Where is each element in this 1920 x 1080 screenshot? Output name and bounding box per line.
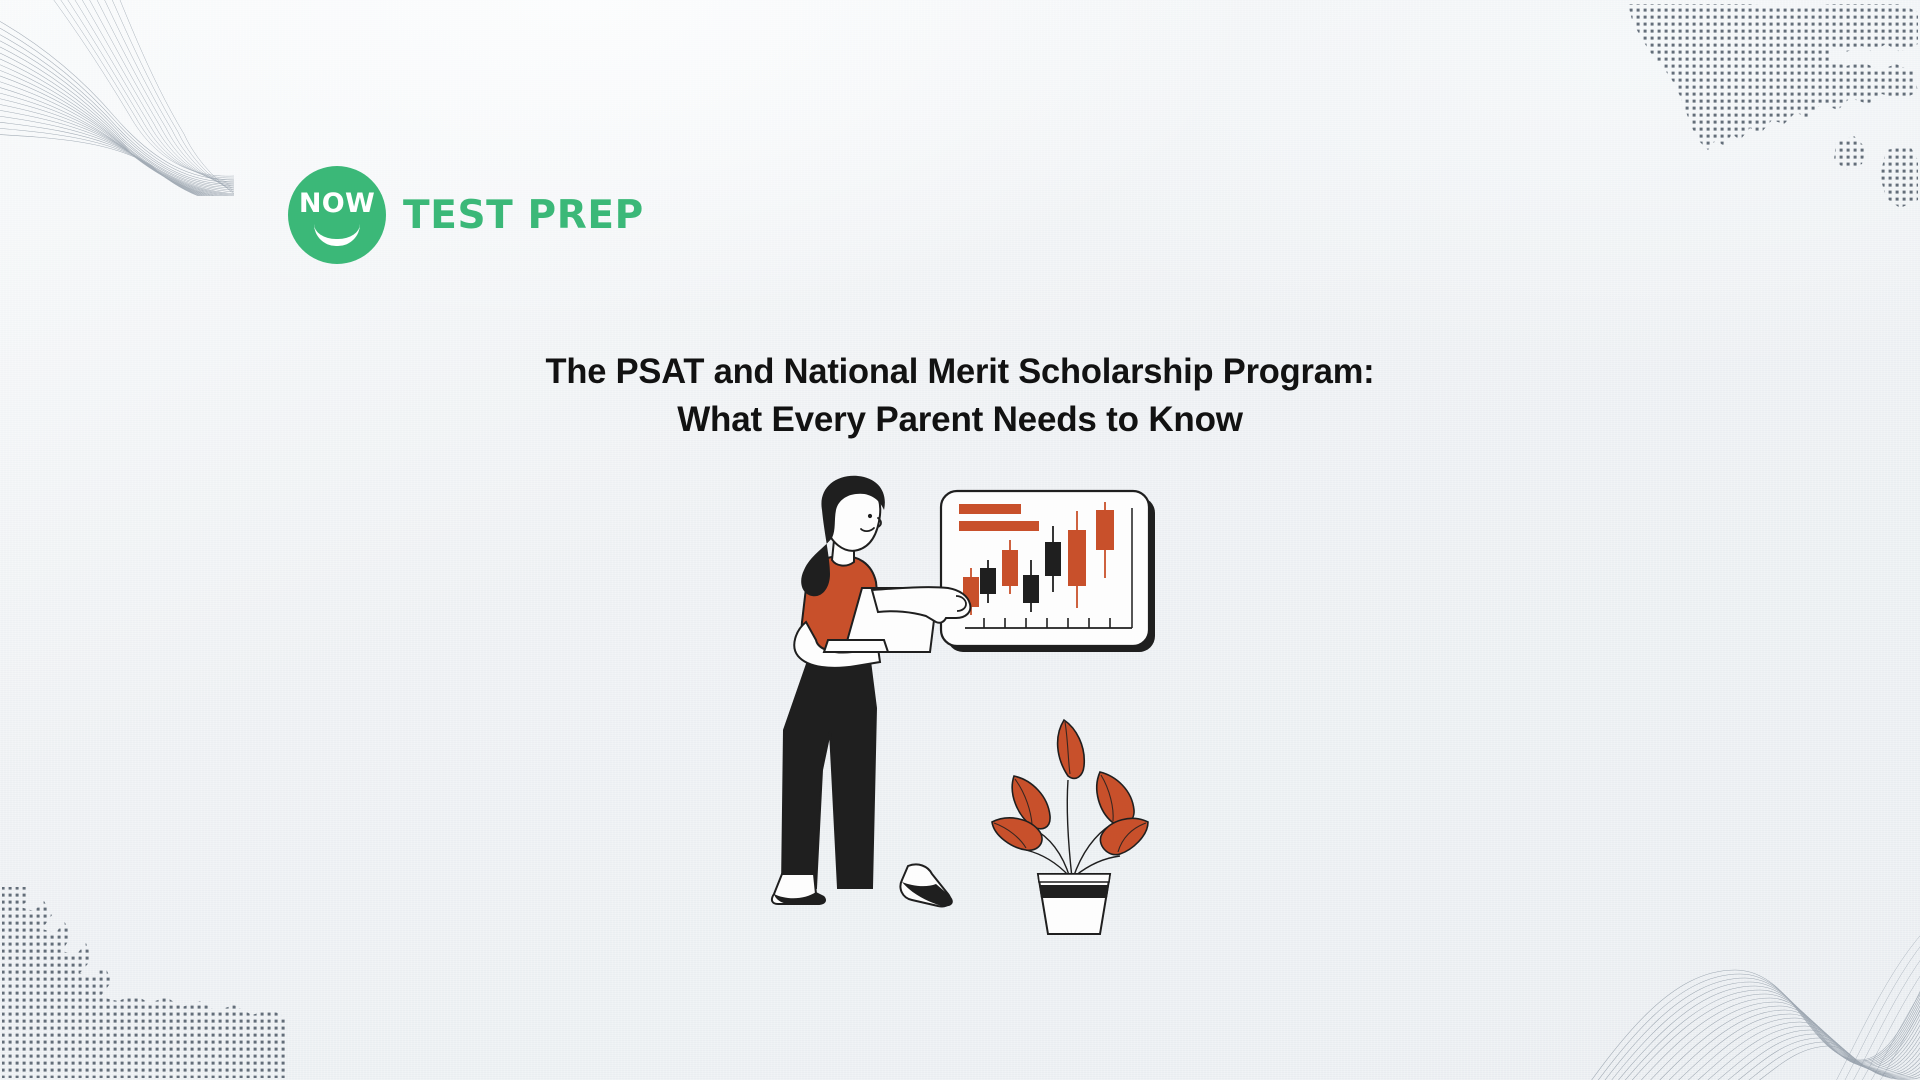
logo-mark-text: NOW: [299, 190, 375, 217]
page-title: The PSAT and National Merit Scholarship …: [0, 348, 1920, 445]
eye: [868, 514, 872, 518]
board-header-bar-1: [959, 504, 1021, 514]
board-header-bar-2: [959, 521, 1039, 531]
leaf-top: [1058, 720, 1085, 778]
shoe-left: [772, 874, 826, 905]
leaf-right-upper: [1097, 772, 1134, 824]
pot-band: [1039, 885, 1109, 898]
page-title-line-2: What Every Parent Needs to Know: [0, 396, 1920, 444]
logo-circle-mark: NOW: [288, 166, 386, 264]
smile-icon: [314, 224, 360, 246]
candlestick-chart-board: [941, 491, 1155, 652]
page-title-line-1: The PSAT and National Merit Scholarship …: [14, 348, 1905, 396]
leaf-right-lower: [1100, 818, 1148, 854]
shoe-right: [900, 864, 952, 906]
potted-plant: [992, 720, 1148, 934]
brand-logo[interactable]: NOW TEST PREP: [288, 166, 644, 264]
pot-body: [1038, 874, 1110, 934]
hero-illustration: [760, 470, 1180, 940]
brand-wordmark: TEST PREP: [403, 193, 644, 238]
pot-rim: [1038, 874, 1110, 882]
